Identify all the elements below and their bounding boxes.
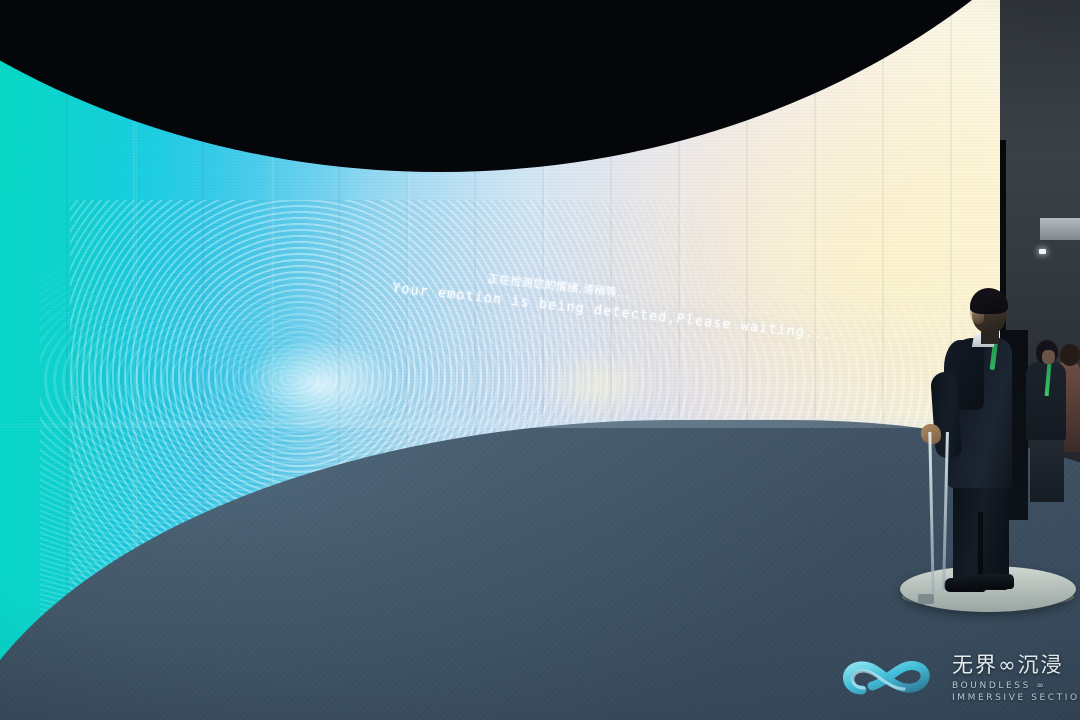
crowd-person-2-head	[1060, 344, 1080, 366]
platform-foot	[918, 594, 934, 604]
person-shoe-right	[968, 574, 1014, 589]
infinity-ribbon-icon	[838, 648, 942, 708]
crowd-person-1-legs	[1030, 436, 1064, 502]
brand-logo: 无界∞沉浸 BOUNDLESS ∞ IMMERSIVE SECTION	[838, 640, 1076, 716]
logo-text-group: 无界∞沉浸 BOUNDLESS ∞ IMMERSIVE SECTION	[952, 653, 1080, 702]
spotlight-icon	[1039, 249, 1046, 254]
logo-chinese-title: 无界∞沉浸	[952, 653, 1080, 677]
ceiling-soffit	[1040, 218, 1080, 240]
logo-english-line-1: BOUNDLESS ∞	[952, 681, 1080, 691]
logo-english-line-2: IMMERSIVE SECTION	[952, 693, 1080, 703]
crowd-person-1-face	[1042, 350, 1055, 364]
screenshot-stage: 正在检测您的情绪,请稍等... Your emotion is being de…	[0, 0, 1080, 720]
